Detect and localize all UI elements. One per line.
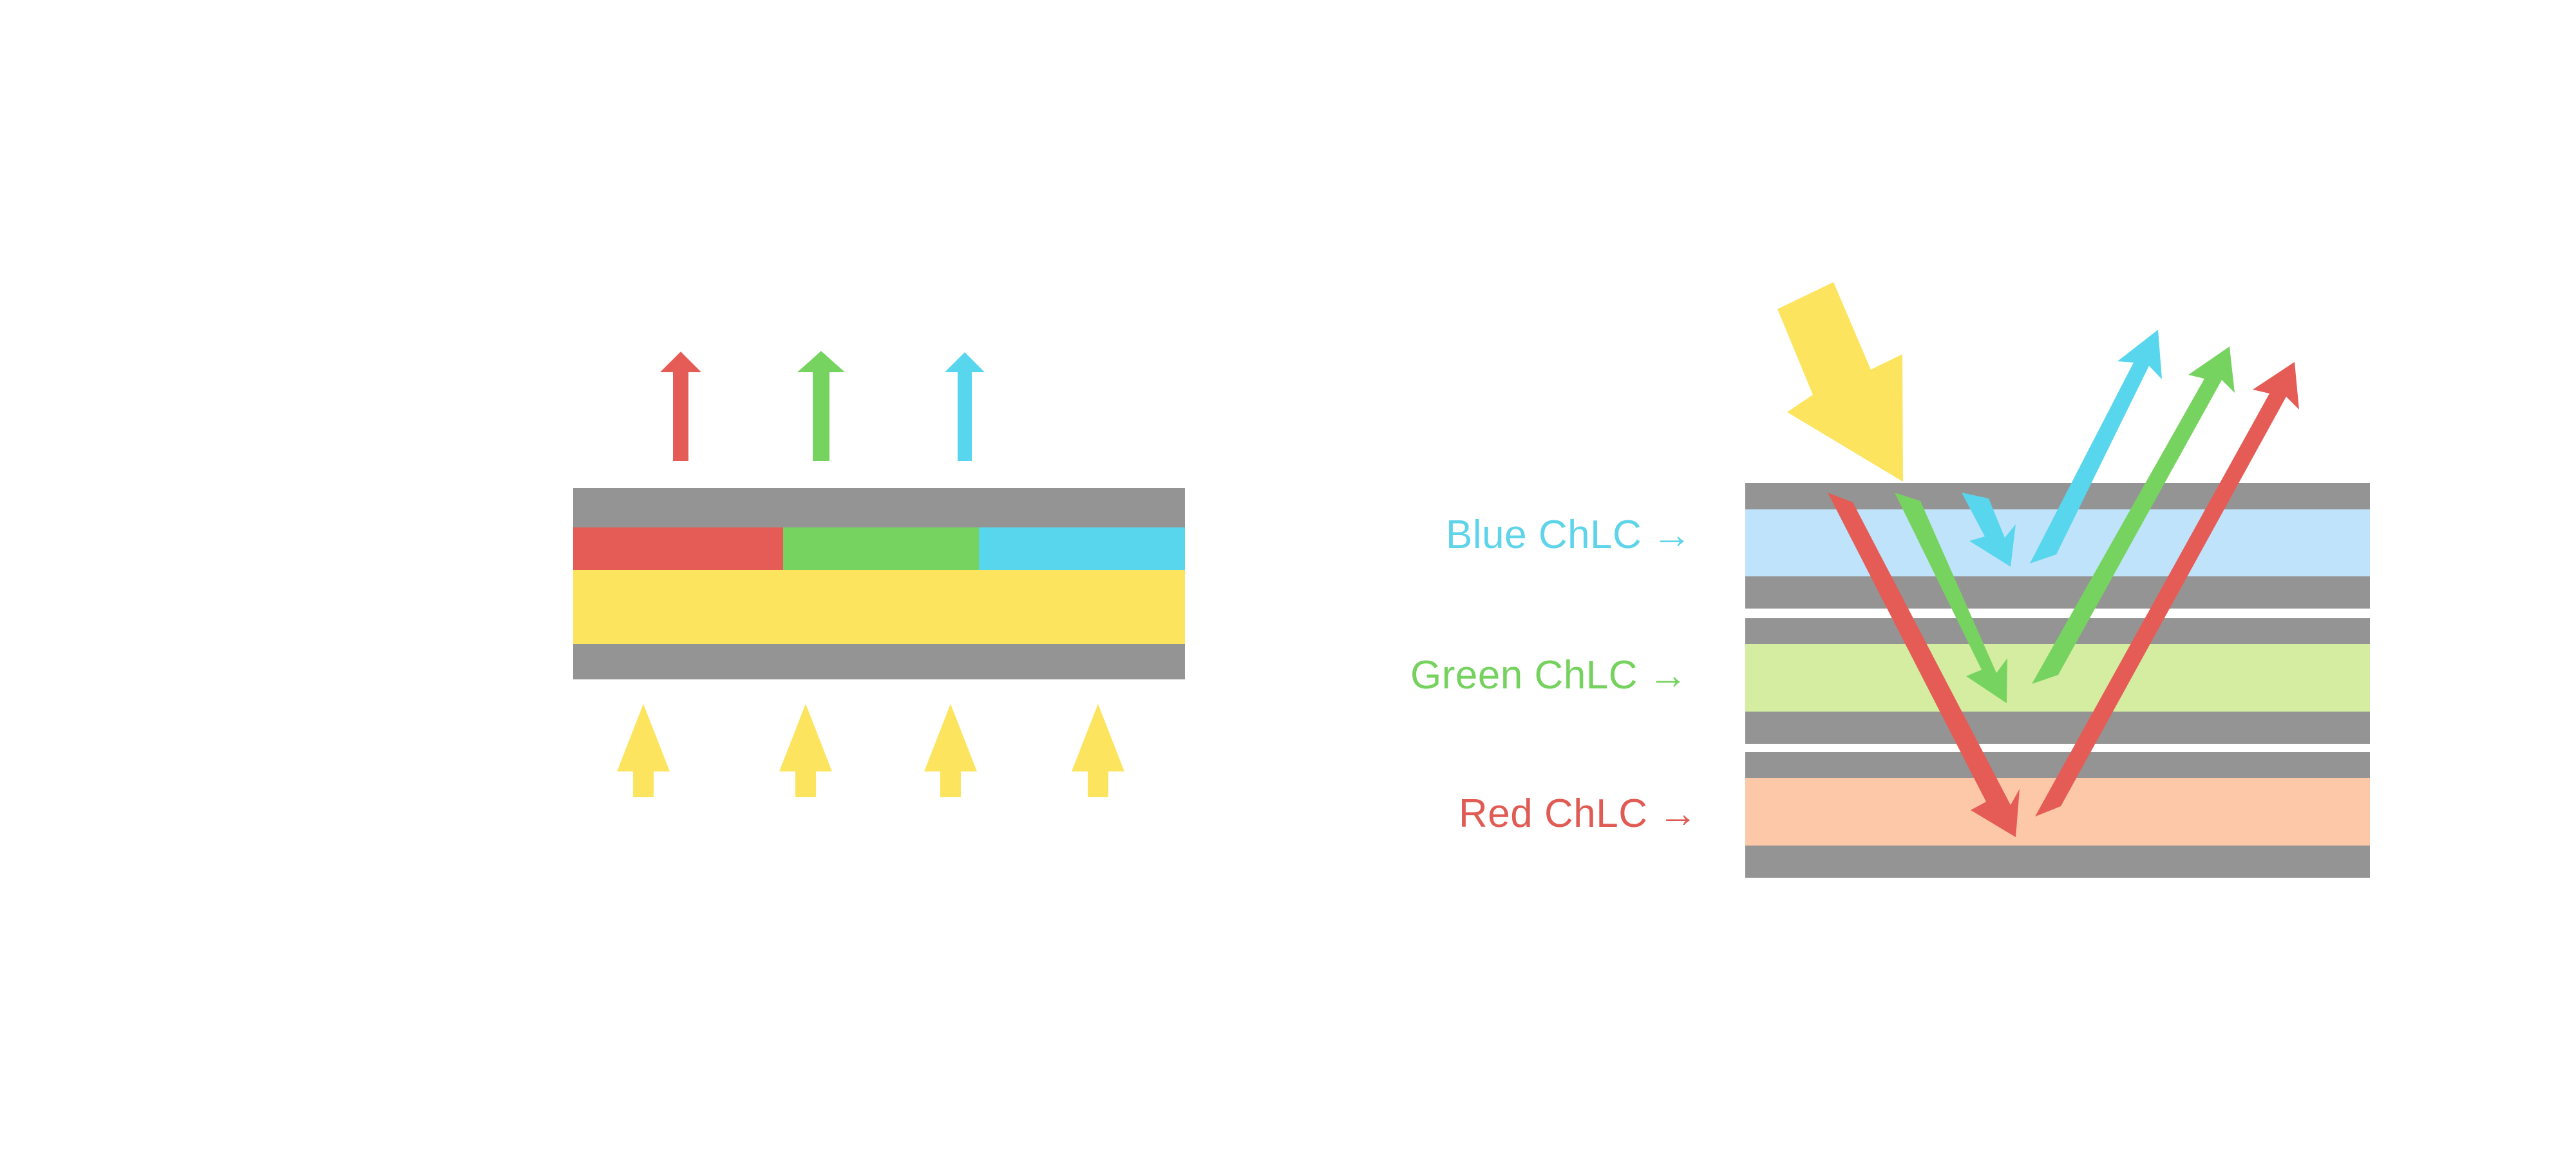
label-red-chlc-text: Red ChLC: [1459, 791, 1647, 836]
green-cell-bottom-electrode: [1745, 712, 2370, 744]
label-blue-chlc: Blue ChLC→: [1446, 512, 1692, 558]
label-blue-chlc-text: Blue ChLC: [1446, 513, 1642, 557]
label-red-chlc-pointer-icon: →: [1647, 791, 1698, 837]
label-green-chlc-pointer-icon: →: [1638, 652, 1689, 698]
label-blue-chlc-pointer-icon: →: [1642, 512, 1692, 558]
right-panel-graphics: [0, 0, 2576, 1154]
incident-light-arrow: [1777, 282, 1903, 482]
blue-cell-bottom-electrode: [1745, 576, 2370, 609]
label-green-chlc: Green ChLC→: [1410, 652, 1689, 698]
red-cell-top-electrode: [1745, 752, 2370, 778]
label-red-chlc: Red ChLC→: [1459, 791, 1698, 837]
right-panel-chlc-stack: Blue ChLC→ Green ChLC→ Red ChLC→: [0, 0, 2576, 1154]
label-green-chlc-text: Green ChLC: [1410, 653, 1638, 697]
figure-canvas: Blue ChLC→ Green ChLC→ Red ChLC→: [0, 0, 2576, 1154]
red-cell-bottom-electrode: [1745, 846, 2370, 878]
